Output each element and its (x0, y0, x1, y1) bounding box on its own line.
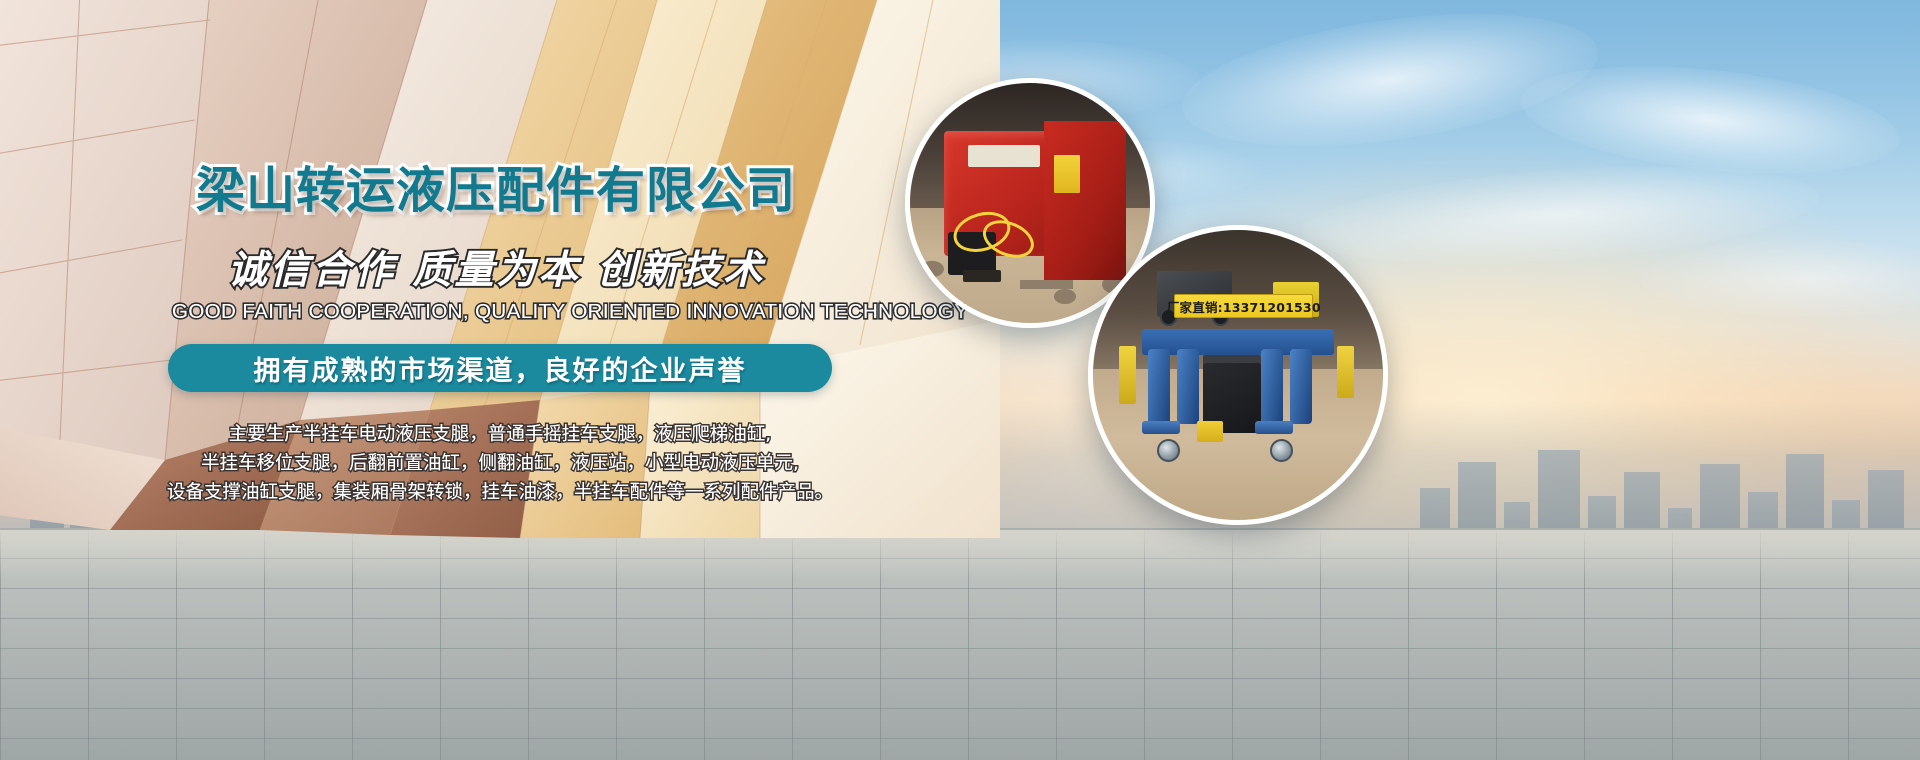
factory-direct-sign-text: 厂家直销:13371201530 (1167, 297, 1321, 316)
highlight-pill: 拥有成熟的市场渠道，良好的企业声誉 (168, 344, 832, 392)
tagline-english-wrap: GOOD FAITH COOPERATION, QUALITY ORIENTED… (172, 300, 832, 326)
blue-hydraulic-landing-gear-photo: 厂家直销:13371201530 (1088, 225, 1388, 525)
tagline-english: GOOD FAITH COOPERATION, QUALITY ORIENTED… (172, 300, 832, 324)
highlight-pill-text: 拥有成熟的市场渠道，良好的企业声誉 (254, 349, 747, 388)
description-line-2: 半挂车移位支腿，后翻前置油缸，侧翻油缸，液压站，小型电动液压单元,半挂车移位支腿… (150, 449, 850, 478)
description-line-1: 主要生产半挂车电动液压支腿，普通手摇挂车支腿，液压爬梯油缸,主要生产半挂车电动液… (150, 420, 850, 449)
tagline: 诚信合作 质量为本 创新技术 (228, 250, 828, 293)
text-column: 梁山转运液压配件有限公司 诚信合作 质量为本 创新技术 诚信合作 质量为本 创新… (0, 0, 1000, 620)
hero-banner: 梁山转运液压配件有限公司 诚信合作 质量为本 创新技术 诚信合作 质量为本 创新… (0, 0, 1920, 760)
description-line-3: 设备支撑油缸支腿，集装厢骨架转锁，挂车油漆，半挂车配件等一系列配件产品。设备支撑… (150, 478, 850, 507)
description-line-fill: 半挂车移位支腿，后翻前置油缸，侧翻油缸，液压站，小型电动液压单元, (150, 449, 850, 478)
company-title: 梁山转运液压配件有限公司 (196, 166, 816, 215)
description-line-fill: 设备支撑油缸支腿，集装厢骨架转锁，挂车油漆，半挂车配件等一系列配件产品。 (150, 478, 850, 507)
description-line-fill: 主要生产半挂车电动液压支腿，普通手摇挂车支腿，液压爬梯油缸, (150, 420, 850, 449)
factory-direct-sign: 厂家直销:13371201530 (1174, 294, 1313, 319)
description-block: 主要生产半挂车电动液压支腿，普通手摇挂车支腿，液压爬梯油缸,主要生产半挂车电动液… (150, 420, 850, 507)
